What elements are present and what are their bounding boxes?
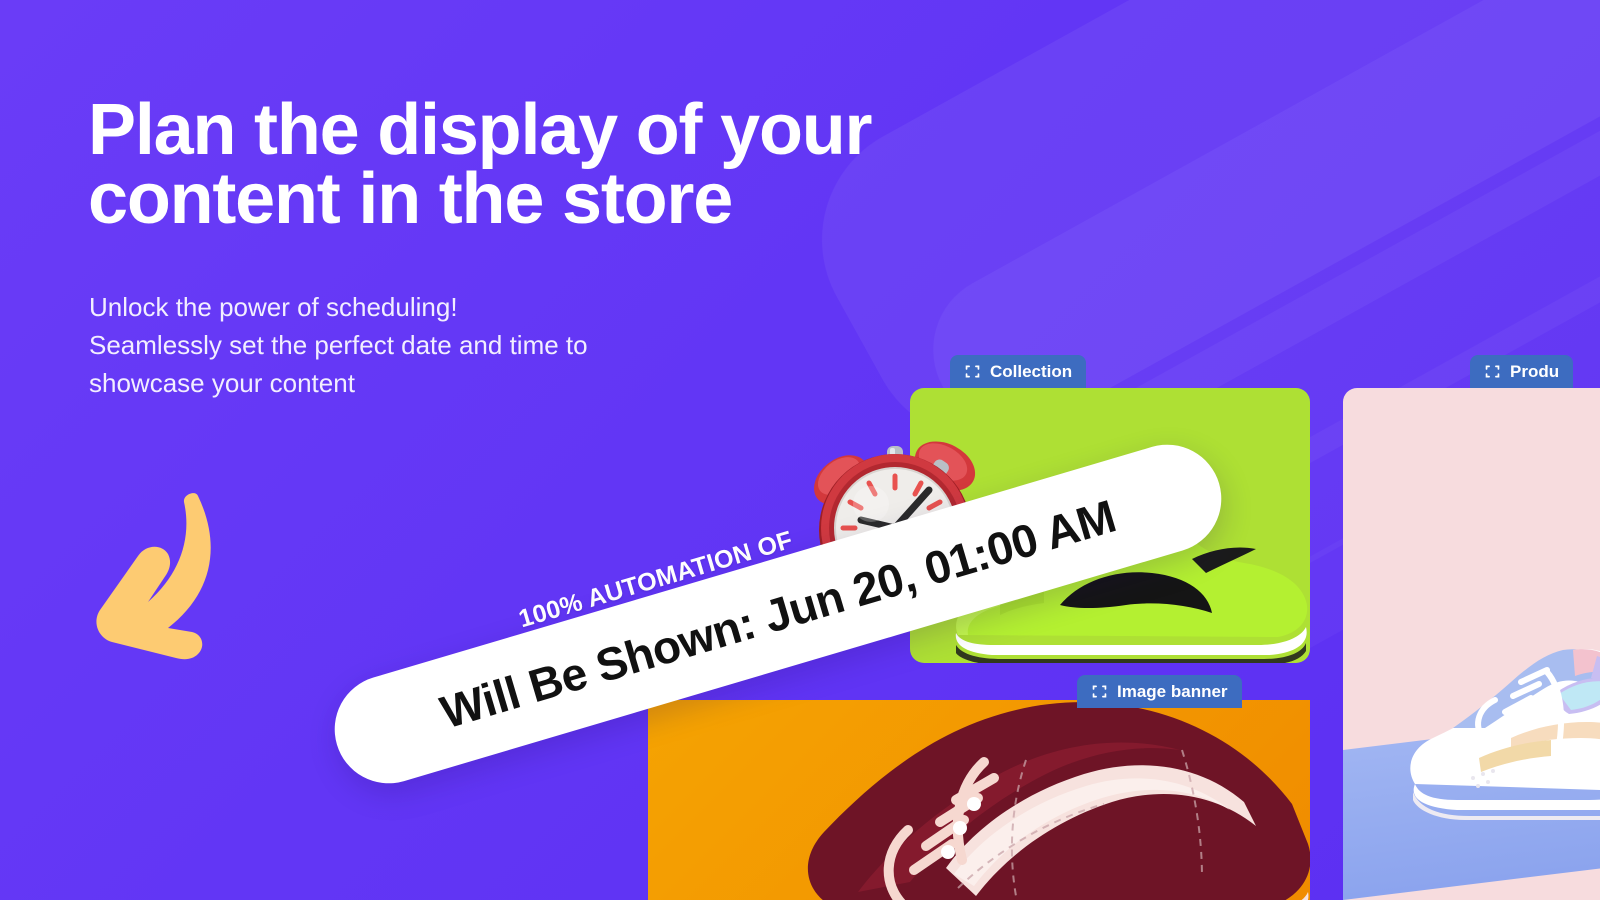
pastel-multicolor-sneaker-icon: [1361, 542, 1600, 842]
selection-frame-icon: [964, 363, 981, 380]
card-image-banner[interactable]: [648, 700, 1310, 900]
page-title: Plan the display of your content in the …: [88, 96, 1038, 234]
badge-product[interactable]: Produ: [1470, 355, 1573, 388]
badge-label: Produ: [1510, 362, 1559, 382]
badge-collection[interactable]: Collection: [950, 355, 1086, 388]
badge-image-banner[interactable]: Image banner: [1077, 675, 1242, 708]
card-product[interactable]: [1343, 388, 1600, 900]
selection-frame-icon: [1091, 683, 1108, 700]
badge-label: Collection: [990, 362, 1072, 382]
selection-frame-icon: [1484, 363, 1501, 380]
page-subtitle: Unlock the power of scheduling! Seamless…: [89, 288, 749, 403]
curved-arrow-down-left-icon: [52, 482, 242, 672]
promo-banner: Collection Produ Image banner: [0, 0, 1600, 900]
badge-label: Image banner: [1117, 682, 1228, 702]
burgundy-skate-shoe-icon: [708, 700, 1310, 900]
